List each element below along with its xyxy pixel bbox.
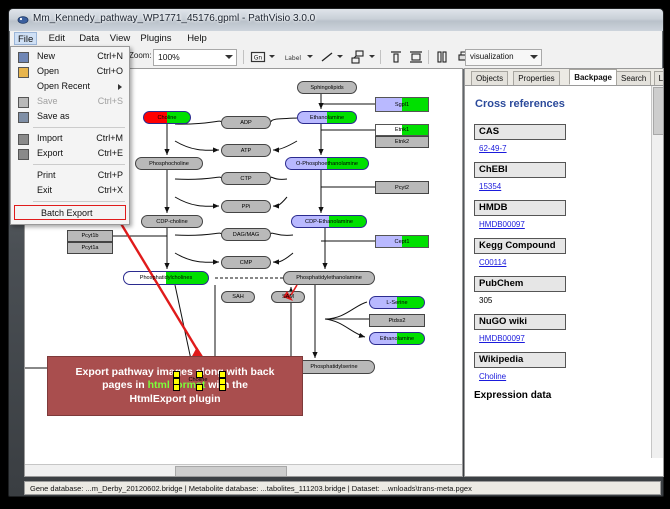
- canvas-horizontal-scrollbar[interactable]: [25, 464, 462, 476]
- side-panel-tabstrip: ObjectsPropertiesBackpageSearchLegend: [465, 69, 663, 86]
- xref-database-nugo-wiki: NuGO wiki: [474, 314, 566, 330]
- callout-line2-pre: pages in: [102, 379, 148, 391]
- title-bar: Mm_Kennedy_pathway_WP1771_45176.gpml - P…: [9, 9, 663, 31]
- pathway-node-label: ADP: [240, 120, 252, 126]
- shape-dropdown-arrow-icon[interactable]: [369, 55, 375, 58]
- file-menu-dropdown[interactable]: NewCtrl+NOpenCtrl+OOpen RecentSaveCtrl+S…: [10, 46, 130, 225]
- menu-help[interactable]: Help: [183, 32, 211, 45]
- pathway-node[interactable]: CDP-Ethanolamine: [291, 215, 367, 228]
- menu-separator: [33, 201, 125, 202]
- save-disk-icon: [18, 97, 29, 108]
- window-title: Mm_Kennedy_pathway_WP1771_45176.gpml - P…: [33, 13, 315, 24]
- pathway-node-label: Ptdss2: [388, 318, 405, 324]
- file-menu-label: Save: [37, 96, 58, 106]
- status-bar: Gene database: ...m_Derby_20120602.bridg…: [24, 481, 661, 495]
- line-tool-icon[interactable]: [320, 49, 334, 65]
- pathway-node-label: Pcyt1a: [81, 245, 98, 251]
- svg-text:Gn: Gn: [254, 55, 263, 62]
- pathway-node[interactable]: Ethanolamine: [297, 111, 357, 124]
- pathway-node[interactable]: Choline: [143, 111, 191, 124]
- pathway-node[interactable]: SAH: [221, 291, 255, 303]
- file-menu-item-export[interactable]: ExportCtrl+E: [11, 146, 129, 161]
- backpage-content: Cross references CAS62-49-7ChEBI15354HMD…: [465, 86, 651, 458]
- pathway-node-label: CMP: [240, 260, 252, 266]
- pathway-node[interactable]: ATP: [221, 144, 271, 157]
- pathway-node-label: Pcyt2: [395, 185, 409, 191]
- shape-tool-icon[interactable]: [350, 49, 366, 65]
- menu-separator: [33, 127, 125, 128]
- pathway-node[interactable]: ADP: [221, 116, 271, 129]
- pathway-node[interactable]: Ethanolamine: [369, 332, 425, 345]
- pathway-node[interactable]: SAM: [271, 291, 305, 303]
- xref-database-wikipedia: Wikipedia: [474, 352, 566, 368]
- tab-objects[interactable]: Objects: [471, 71, 508, 85]
- menu-edit[interactable]: Edit: [45, 32, 69, 45]
- import-icon: [18, 134, 29, 145]
- pathway-node-label: Phosphatidylserine: [310, 364, 357, 370]
- cross-references-title: Cross references: [475, 98, 645, 110]
- file-menu-item-batch-export[interactable]: Batch Export: [14, 205, 126, 220]
- pathway-node-label: Choline: [158, 115, 177, 121]
- file-menu-item-import[interactable]: ImportCtrl+M: [11, 131, 129, 146]
- zoom-value: 100%: [158, 52, 180, 62]
- pathway-node[interactable]: O-Phosphoethanolamine: [285, 157, 369, 170]
- pathway-node[interactable]: Sphingolipids: [297, 81, 357, 94]
- file-menu-item-open[interactable]: OpenCtrl+O: [11, 64, 129, 79]
- file-menu-shortcut: Ctrl+M: [96, 131, 123, 146]
- xref-database-chebi: ChEBI: [474, 162, 566, 178]
- file-menu-label: New: [37, 51, 55, 61]
- status-text: Gene database: ...m_Derby_20120602.bridg…: [30, 484, 472, 493]
- menu-plugins[interactable]: Plugins: [136, 32, 175, 45]
- pathway-node-label: SAM: [282, 294, 294, 300]
- file-menu-label: Print: [37, 170, 56, 180]
- pathway-node-label: Pcyt1b: [81, 233, 98, 239]
- xref-value-kegg-compound[interactable]: C00114: [479, 258, 645, 267]
- selection-handle[interactable]: [196, 371, 203, 378]
- file-menu-shortcut: Ctrl+P: [98, 168, 123, 183]
- xref-value-cas[interactable]: 62-49-7: [479, 144, 645, 153]
- label-tool-icon[interactable]: Label: [282, 49, 304, 65]
- pathway-node[interactable]: Pcyt1a: [67, 242, 113, 254]
- pathway-node[interactable]: Phosphatidylserine: [293, 360, 375, 374]
- pathway-node-label: CDP-Ethanolamine: [305, 219, 353, 225]
- align-top-icon[interactable]: [388, 49, 404, 65]
- pathway-node[interactable]: Phosphatidylethanolamine: [283, 271, 375, 285]
- export-icon: [18, 149, 29, 160]
- menu-data[interactable]: Data: [75, 32, 103, 45]
- file-menu-label: Open Recent: [37, 81, 90, 91]
- datanode-dropdown-arrow-icon[interactable]: [269, 55, 275, 58]
- pathway-node[interactable]: PPi: [221, 200, 271, 213]
- xref-database-hmdb: HMDB: [474, 200, 566, 216]
- pathway-node[interactable]: DAG/MAG: [221, 228, 271, 241]
- pathway-node[interactable]: CMP: [221, 256, 271, 269]
- save-as-icon: [18, 112, 29, 123]
- pathway-node[interactable]: Phosphatidylcholines: [123, 271, 209, 285]
- menu-bar: FileEditDataViewPluginsHelp: [10, 31, 662, 47]
- submenu-arrow-icon: [118, 84, 122, 90]
- pathway-node-label: Ethanolamine: [310, 115, 344, 121]
- xref-value-wikipedia[interactable]: Choline: [479, 372, 645, 381]
- svg-text:Label: Label: [285, 55, 302, 62]
- open-folder-icon: [18, 67, 29, 78]
- label-dropdown-arrow-icon[interactable]: [307, 55, 313, 58]
- pathway-node-label: O-Phosphoethanolamine: [296, 161, 358, 167]
- side-panel: ObjectsPropertiesBackpageSearchLegend Cr…: [464, 68, 664, 477]
- callout-line3: HtmlExport plugin: [130, 393, 221, 405]
- file-menu-item-save[interactable]: SaveCtrl+S: [11, 94, 129, 109]
- align-left-icon[interactable]: [408, 49, 424, 65]
- pathway-node-label: Sgpl1: [395, 102, 409, 108]
- expression-data-title: Expression data: [474, 390, 645, 401]
- pathway-node[interactable]: Pcyt1b: [67, 230, 113, 242]
- pathway-node[interactable]: Pcyt2: [375, 181, 429, 194]
- tab-properties[interactable]: Properties: [513, 71, 559, 85]
- tab-backpage[interactable]: Backpage: [569, 69, 617, 85]
- pathway-node[interactable]: Sgpl1: [375, 97, 429, 112]
- pathway-node-label: ATP: [241, 148, 251, 154]
- file-menu-item-print[interactable]: PrintCtrl+P: [11, 168, 129, 183]
- pathway-node[interactable]: Etnk2: [375, 136, 429, 148]
- file-menu-item-save-as[interactable]: Save as: [11, 109, 129, 124]
- chevron-down-icon: [225, 55, 233, 59]
- xref-database-cas: CAS: [474, 124, 566, 140]
- file-menu-label: Export: [37, 148, 63, 158]
- pathway-node-label: Etnk2: [395, 139, 409, 145]
- screenshot-root: Mm_Kennedy_pathway_WP1771_45176.gpml - P…: [0, 0, 670, 509]
- visualization-combobox[interactable]: visualization: [465, 49, 542, 66]
- pathway-node-label: Cept1: [395, 239, 410, 245]
- pathway-node-label: CTP: [240, 176, 251, 182]
- pathway-node-label: CDP-choline: [156, 219, 187, 225]
- visualization-value: visualization: [470, 52, 514, 61]
- pathway-node[interactable]: CDP-choline: [141, 215, 203, 228]
- file-menu-shortcut: Ctrl+N: [97, 49, 123, 64]
- xref-database-kegg-compound: Kegg Compound: [474, 238, 566, 254]
- file-menu-shortcut: Ctrl+E: [98, 146, 123, 161]
- pathway-node-label: Etnk1: [395, 127, 409, 133]
- file-menu-label: Open: [37, 66, 59, 76]
- pathway-node-label: Phosphocholine: [149, 161, 189, 167]
- pathway-node[interactable]: Etnk1: [375, 124, 429, 136]
- pathway-node-label: DAG/MAG: [233, 232, 259, 238]
- datanode-tool-icon[interactable]: Gn: [250, 49, 266, 65]
- pathway-node-label: L-Serine: [386, 300, 407, 306]
- xref-database-pubchem: PubChem: [474, 276, 566, 292]
- menu-file[interactable]: File: [14, 32, 37, 45]
- line-dropdown-arrow-icon[interactable]: [337, 55, 343, 58]
- selection-handle[interactable]: [173, 384, 180, 391]
- file-menu-label: Import: [37, 133, 63, 143]
- pathway-node[interactable]: Cept1: [375, 235, 429, 248]
- pathway-node-label: Sphingolipids: [310, 85, 343, 91]
- pathway-node[interactable]: Ptdss2: [369, 314, 425, 327]
- file-menu-shortcut: Ctrl+O: [97, 64, 123, 79]
- file-menu-shortcut: Ctrl+X: [98, 183, 123, 198]
- pathvisio-icon: [17, 14, 29, 26]
- file-menu-item-exit[interactable]: ExitCtrl+X: [11, 183, 129, 198]
- stack-vertical-icon[interactable]: [435, 49, 451, 65]
- selection-handle[interactable]: [196, 384, 203, 391]
- zoom-label: Zoom:: [129, 51, 152, 60]
- callout-line2-post: with the: [205, 379, 248, 391]
- pathway-node[interactable]: Phosphocholine: [135, 157, 203, 170]
- new-file-icon: [18, 52, 29, 63]
- side-panel-vertical-scrollbar[interactable]: [651, 86, 663, 458]
- side-panel-scroll-thumb[interactable]: [653, 87, 664, 135]
- pathway-node[interactable]: CTP: [221, 172, 271, 185]
- menu-separator: [33, 164, 125, 165]
- pathway-node-label: PPi: [242, 204, 251, 210]
- xref-value-chebi[interactable]: 15354: [479, 182, 645, 191]
- file-menu-item-open-recent[interactable]: Open Recent: [11, 79, 129, 94]
- pathway-node[interactable]: L-Serine: [369, 296, 425, 309]
- menu-view[interactable]: View: [106, 32, 134, 45]
- pathway-node-label: Ethanolamine: [380, 336, 414, 342]
- pathway-node-label: Phosphatidylethanolamine: [296, 275, 362, 281]
- application-window: Mm_Kennedy_pathway_WP1771_45176.gpml - P…: [8, 8, 664, 497]
- tab-legend[interactable]: Legend: [654, 71, 664, 85]
- pathway-node-label: SAH: [232, 294, 244, 300]
- cross-reference-list: CAS62-49-7ChEBI15354HMDBHMDB00097Kegg Co…: [471, 124, 645, 381]
- selection-handle[interactable]: [219, 384, 226, 391]
- xref-value-pubchem: 305: [479, 296, 645, 305]
- file-menu-label: Save as: [37, 111, 70, 121]
- canvas-scroll-thumb[interactable]: [175, 466, 287, 477]
- xref-value-nugo-wiki[interactable]: HMDB00097: [479, 334, 645, 343]
- file-menu-label: Batch Export: [41, 208, 93, 218]
- file-menu-item-new[interactable]: NewCtrl+N: [11, 49, 129, 64]
- xref-value-hmdb[interactable]: HMDB00097: [479, 220, 645, 229]
- tab-search[interactable]: Search: [616, 71, 651, 85]
- chevron-down-icon: [530, 55, 538, 59]
- zoom-combobox[interactable]: 100%: [153, 49, 237, 66]
- file-menu-label: Exit: [37, 185, 52, 195]
- file-menu-shortcut: Ctrl+S: [98, 94, 123, 109]
- pathway-node-label: Phosphatidylcholines: [140, 275, 193, 281]
